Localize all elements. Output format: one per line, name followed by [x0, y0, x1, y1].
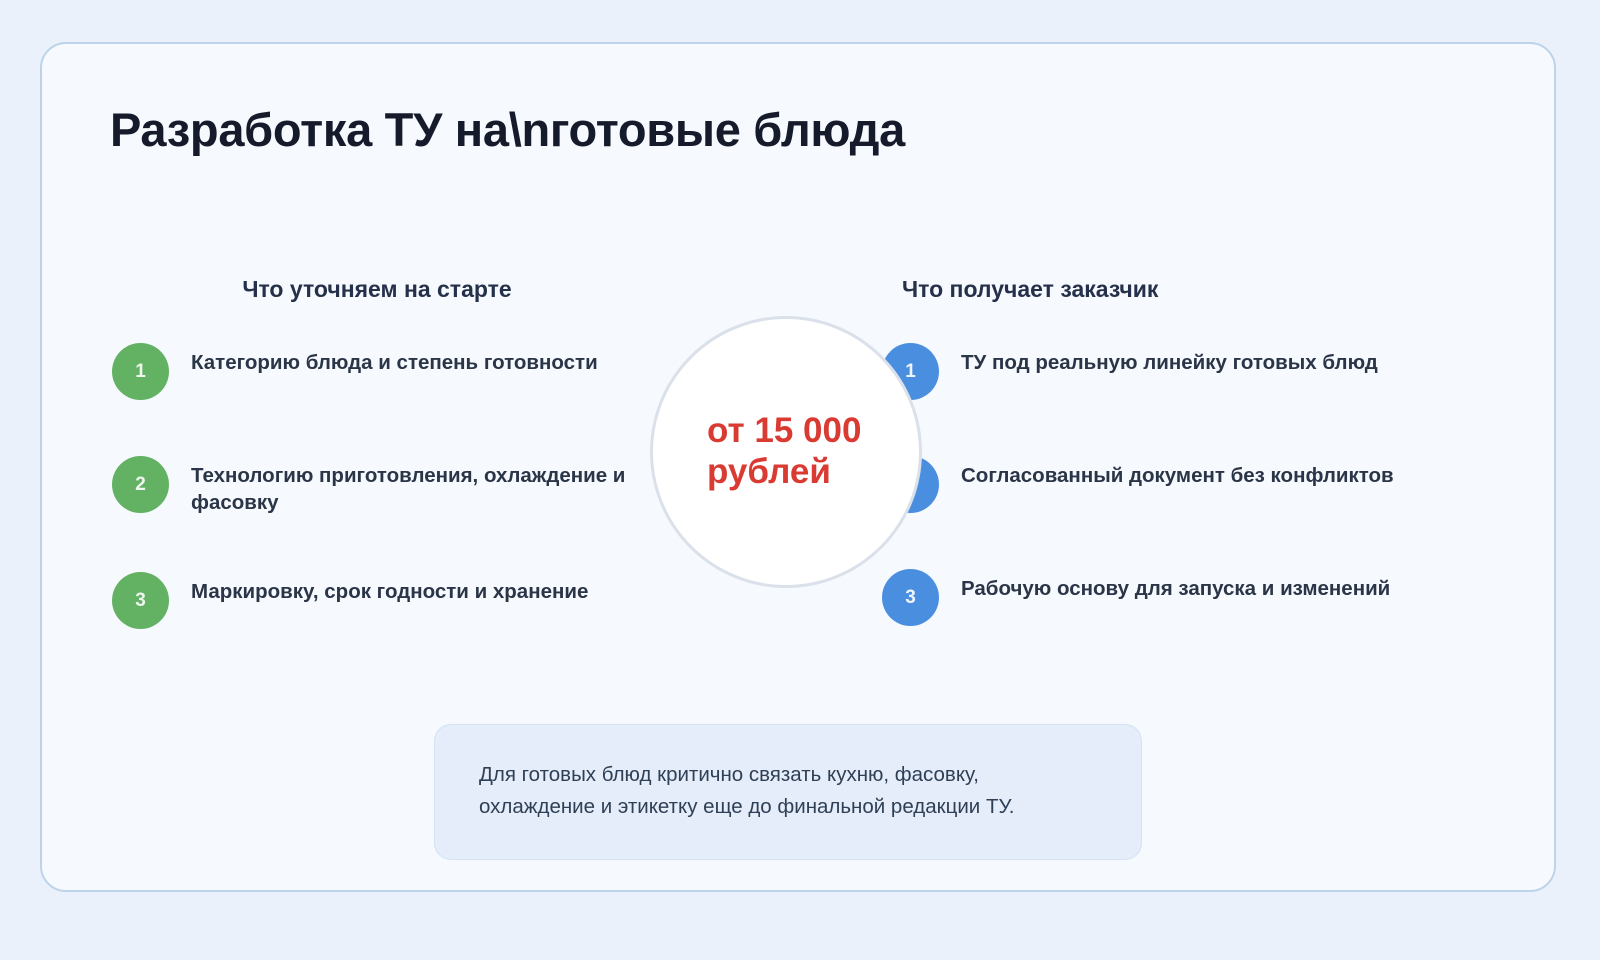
slide-card: Разработка ТУ на\nготовые блюда Что уточ…	[40, 42, 1556, 892]
step-badge-1: 1	[112, 343, 169, 400]
list-item: 2 Технологию приготовления, охлаждение и…	[112, 454, 642, 516]
left-column: Что уточняем на старте 1 Категорию блюда…	[112, 276, 642, 629]
right-column-heading: Что получает заказчик	[882, 276, 1442, 303]
note-box: Для готовых блюд критично связать кухню,…	[434, 724, 1142, 860]
step-badge-3: 3	[112, 572, 169, 629]
list-item: 3 Рабочую основу для запуска и изменений	[882, 567, 1442, 626]
left-column-heading: Что уточняем на старте	[112, 276, 642, 303]
right-column: Что получает заказчик 1 ТУ под реальную …	[882, 276, 1442, 626]
list-item-label: Рабочую основу для запуска и изменений	[939, 567, 1390, 602]
benefit-badge-3: 3	[882, 569, 939, 626]
list-item: 2 Согласованный документ без конфликтов	[882, 454, 1442, 513]
note-text: Для готовых блюд критично связать кухню,…	[479, 759, 1097, 823]
list-item-label: Маркировку, срок годности и хранение	[169, 570, 588, 605]
list-item: 3 Маркировку, срок годности и хранение	[112, 570, 642, 629]
page-title: Разработка ТУ на\nготовые блюда	[110, 102, 905, 157]
list-item: 1 Категорию блюда и степень готовности	[112, 341, 642, 400]
list-item-label: Согласованный документ без конфликтов	[939, 454, 1394, 489]
step-badge-2: 2	[112, 456, 169, 513]
list-item-label: Категорию блюда и степень готовности	[169, 341, 598, 376]
price-label: от 15 000 рублей	[707, 411, 865, 492]
list-item-label: Технологию приготовления, охлаждение и ф…	[169, 454, 642, 516]
list-item-label: ТУ под реальную линейку готовых блюд	[939, 341, 1378, 376]
price-circle: от 15 000 рублей	[650, 316, 922, 588]
list-item: 1 ТУ под реальную линейку готовых блюд	[882, 341, 1442, 400]
